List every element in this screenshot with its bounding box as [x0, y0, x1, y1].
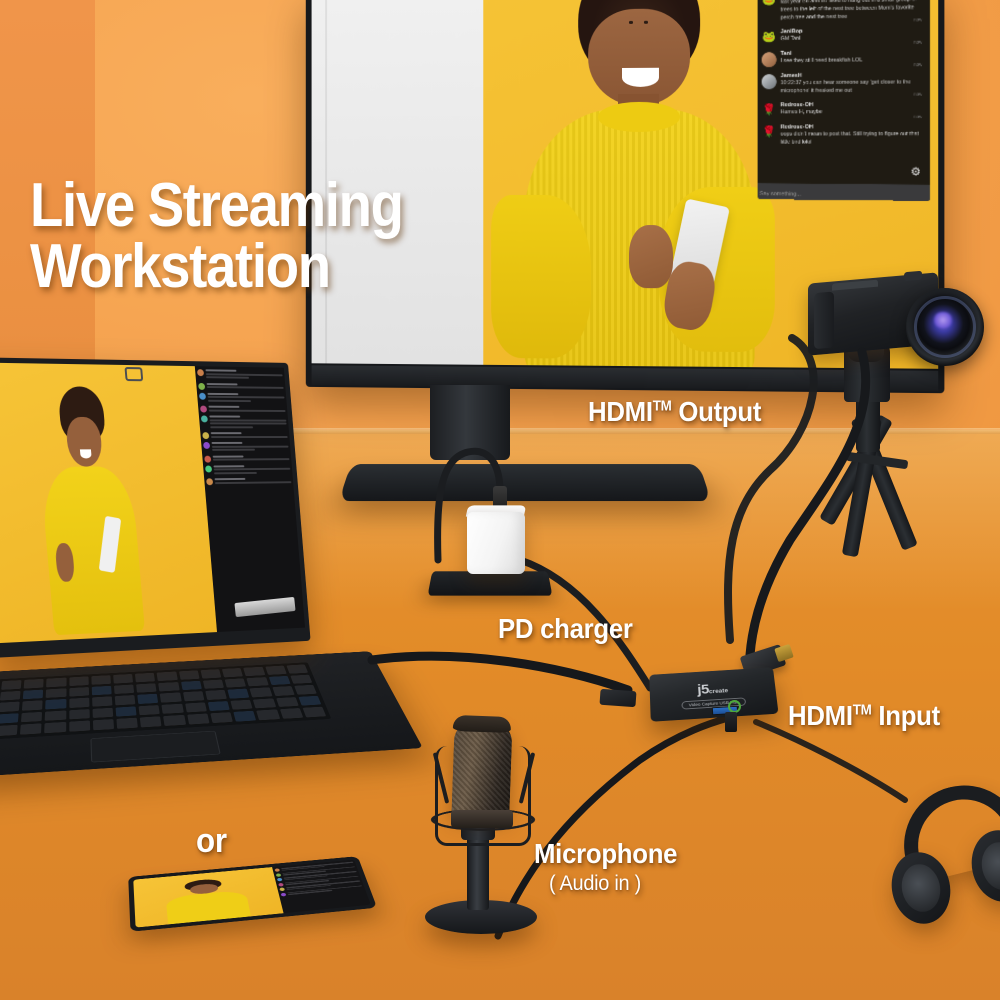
chat-message: Tani I see they still need breakfish LOL…	[762, 48, 925, 67]
j5create-logo: j5create	[697, 680, 729, 697]
chat-message	[203, 442, 289, 453]
camera-lens	[906, 288, 984, 366]
camera-grip	[814, 291, 834, 349]
callout-microphone: Microphone	[534, 838, 677, 870]
brand-create: create	[709, 687, 729, 694]
right-eye	[644, 21, 648, 23]
tripod-column	[856, 394, 880, 452]
chat-text: last year B6 and B7 liked to hang out in…	[780, 0, 924, 23]
frog-icon: 🐸	[762, 0, 777, 8]
chat-message: JamesH 10:22:37 you can hear someone say…	[762, 71, 925, 96]
chat-timestamp: now	[914, 39, 922, 44]
chat-input[interactable]: Say something...	[758, 183, 931, 201]
product-scene: 🐸 JaniBop last year B6 and B7 liked to h…	[0, 0, 1000, 1000]
trademark-symbol: TM	[853, 703, 872, 719]
sweater-collar	[598, 102, 679, 132]
camera-tripod-rig	[800, 270, 1000, 550]
yellow-sweater	[166, 890, 251, 925]
chat-message: 🌹 Redrose-OH Hames H, maybe now	[762, 101, 925, 119]
laptop-stream-video	[0, 362, 217, 643]
phone-stream-video	[133, 867, 283, 927]
charger-plate	[428, 571, 553, 595]
chat-timestamp: now	[914, 62, 922, 67]
gear-icon[interactable]: ⚙	[911, 167, 922, 178]
audio-jack-plug	[725, 712, 737, 732]
mic-capsule-top	[453, 715, 512, 733]
callout-hdmi-output: HDMITM Output	[588, 396, 761, 428]
callout-hdmi-output-text: HDMI	[588, 396, 653, 427]
chat-message: 🐸 JaniBop GM Tani now	[762, 26, 925, 45]
chat-message	[197, 369, 283, 381]
laptop-base	[0, 651, 423, 778]
chat-text: 10:22:37 you can hear someone say 'get c…	[780, 80, 924, 97]
phone-chat-panel[interactable]	[272, 860, 371, 914]
chat-message: 🐸 JaniBop last year B6 and B7 liked to h…	[762, 0, 925, 23]
callout-hdmi-input: HDMITM Input	[788, 700, 940, 732]
laptop	[0, 360, 420, 780]
callout-microphone-subtitle: ( Audio in )	[549, 872, 641, 896]
rose-icon: 🌹	[762, 125, 777, 140]
chat-username: Redrose-OH	[780, 123, 924, 132]
chat-text: I see they still need breakfish LOL	[780, 57, 924, 66]
callout-hdmi-output-suffix: Output	[672, 396, 762, 427]
chat-timestamp: now	[914, 114, 922, 119]
chat-message	[205, 464, 291, 475]
chat-message	[202, 432, 288, 439]
avatar	[762, 74, 777, 89]
left-arm	[491, 195, 592, 358]
trademark-symbol: TM	[653, 399, 672, 415]
chat-message: 🌹 Redrose-OH oops didn't mean to post th…	[762, 123, 925, 148]
face	[588, 8, 690, 105]
left-eye	[629, 21, 633, 23]
callout-hdmi-input-suffix: Input	[872, 700, 940, 731]
camera-hotshoe	[832, 280, 878, 291]
rose-icon: 🌹	[762, 103, 777, 118]
chat-message	[206, 477, 291, 485]
laptop-keyboard[interactable]	[0, 662, 331, 739]
chat-message	[198, 382, 284, 390]
chat-message-list[interactable]: 🐸 JaniBop last year B6 and B7 liked to h…	[758, 0, 931, 162]
usb-c-cable-plug	[599, 689, 636, 707]
laptop-trackpad[interactable]	[90, 731, 220, 763]
chat-username: Redrose-OH	[780, 101, 924, 110]
chat-timestamp: now	[914, 17, 922, 22]
chat-timestamp: now	[914, 91, 922, 96]
webcam-notch	[124, 367, 143, 381]
smile	[80, 449, 92, 458]
callout-hdmi-input-text: HDMI	[788, 700, 853, 731]
chat-footer: ⚙	[758, 161, 931, 182]
page-title: Live Streaming Workstation	[30, 176, 403, 298]
chat-text: Hames H, maybe	[780, 109, 924, 117]
headphone-earpad	[897, 861, 944, 916]
lens-glint	[932, 312, 954, 328]
chat-text: GM Tani	[780, 35, 924, 45]
chat-message	[199, 392, 285, 403]
camera-mode-dial	[904, 271, 922, 282]
chat-message	[204, 455, 290, 462]
pd-power-adapter	[467, 512, 525, 574]
chat-message	[200, 406, 286, 413]
chat-message	[201, 415, 287, 429]
headphone-earpad	[977, 839, 1000, 894]
stream-chat-panel[interactable]: 🐸 JaniBop last year B6 and B7 liked to h…	[758, 0, 931, 201]
smile	[622, 68, 659, 87]
callout-pd-charger: PD charger	[498, 613, 633, 645]
condenser-microphone	[395, 712, 575, 948]
monitor-stand-neck	[430, 385, 510, 460]
over-ear-headphones	[890, 786, 1000, 946]
chat-input-placeholder: Say something...	[760, 191, 802, 197]
callout-or: or	[196, 822, 227, 861]
chat-text: oops didn't mean to post that. Still try…	[780, 132, 924, 148]
mic-collar	[451, 810, 513, 828]
laptop-streamer-person	[14, 385, 165, 641]
mic-capsule-grille	[451, 719, 512, 817]
frog-icon: 🐸	[762, 30, 777, 45]
pointing-hand	[629, 225, 673, 288]
avatar	[762, 52, 777, 67]
